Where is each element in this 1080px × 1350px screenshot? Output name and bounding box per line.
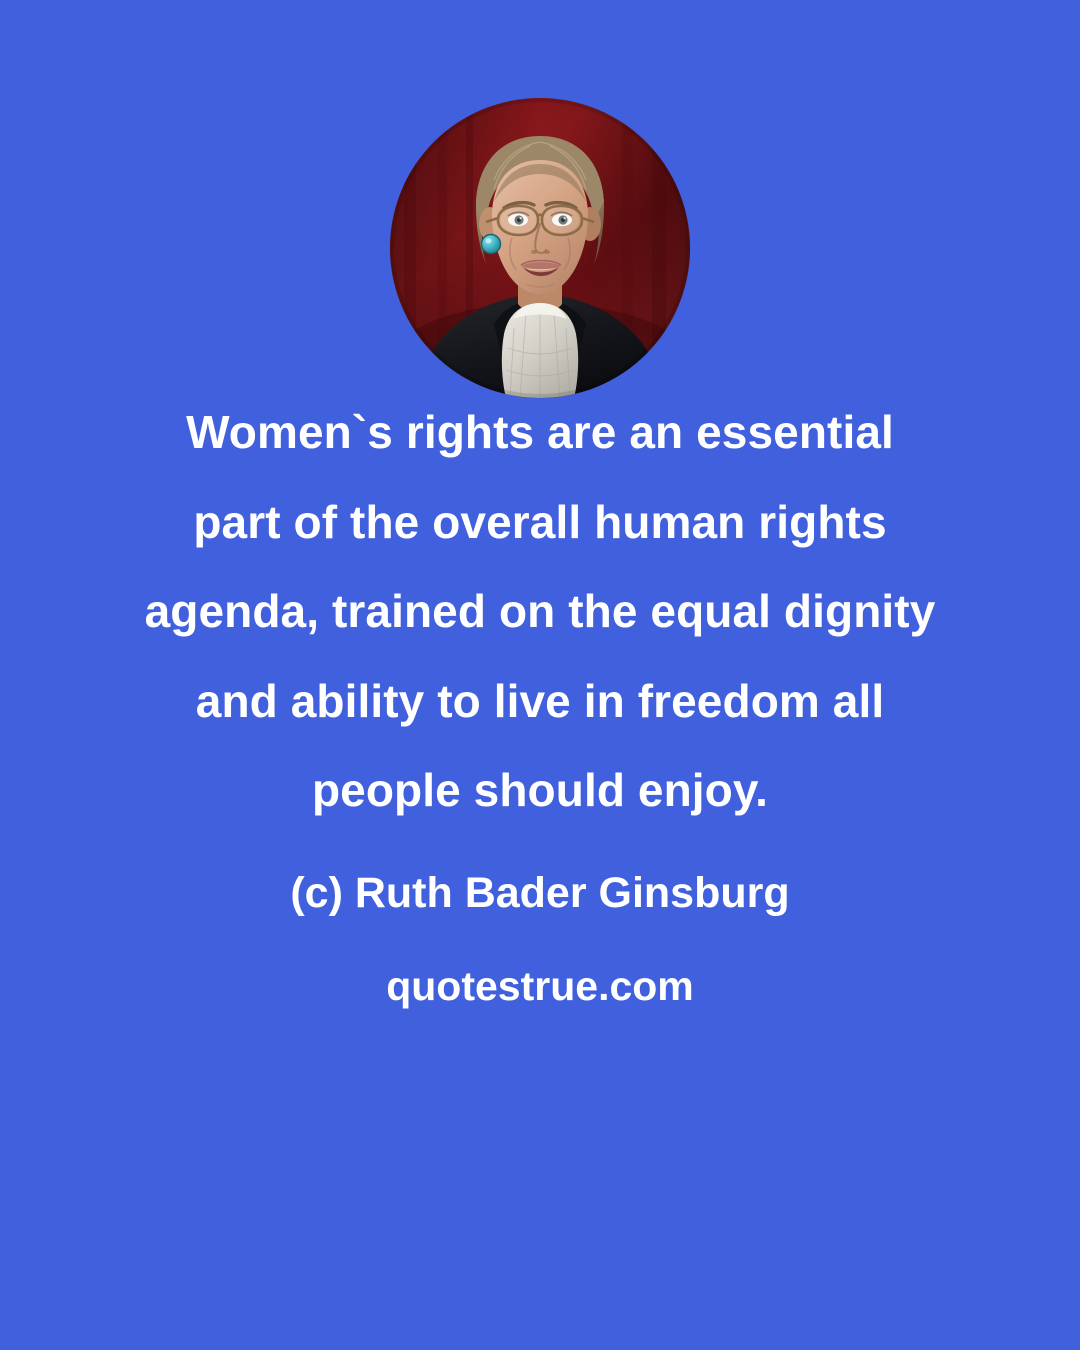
portrait-avatar-icon	[390, 98, 690, 398]
quote-line: Women`s rights are an essential	[0, 388, 1080, 478]
attribution: (c) Ruth Bader Ginsburg	[0, 848, 1080, 938]
source: quotestrue.com	[0, 941, 1080, 1031]
quote-line: and ability to live in freedom all	[0, 657, 1080, 747]
quote-line: agenda, trained on the equal dignity	[0, 567, 1080, 657]
quote-line: people should enjoy.	[0, 746, 1080, 836]
quote-card: Women`s rights are an essential part of …	[0, 0, 1080, 1350]
portrait-avatar	[390, 98, 690, 398]
quote-line: part of the overall human rights	[0, 478, 1080, 568]
quote-text: Women`s rights are an essential part of …	[0, 388, 1080, 836]
source-website[interactable]: quotestrue.com	[0, 941, 1080, 1031]
attribution-text: (c) Ruth Bader Ginsburg	[0, 848, 1080, 938]
